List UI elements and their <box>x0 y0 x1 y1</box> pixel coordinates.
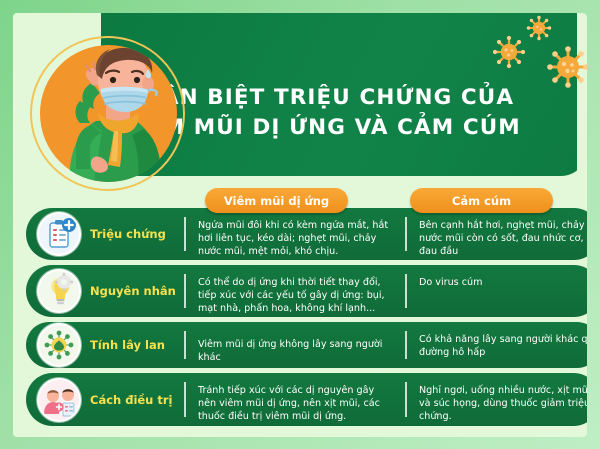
cell-contagiousness-flu: Có khả năng lây sang người khác qua đườn… <box>419 333 587 359</box>
row-divider-1 <box>184 382 186 417</box>
row-label-contagiousness: Tính lây lan <box>90 338 182 352</box>
table-row-contagiousness[interactable]: Tính lây lan Viêm mũi dị ứng không lây s… <box>26 322 587 368</box>
virus-particle-small-icon <box>526 15 552 45</box>
row-divider-2 <box>405 217 407 251</box>
cell-symptoms-flu: Bên cạnh hắt hơi, nghẹt mũi, chảy nước m… <box>419 219 587 259</box>
cell-causes-flu: Do virus cúm <box>419 276 587 289</box>
column-header-flu[interactable]: Cảm cúm <box>410 188 553 213</box>
doctor-patient-icon <box>37 378 81 422</box>
virus-particle-medium-icon <box>492 35 526 73</box>
masked-man-illustration-icon <box>40 45 177 182</box>
row-divider-2 <box>405 331 407 359</box>
row-label-causes: Nguyên nhân <box>90 284 182 298</box>
column-header-flu-label: Cảm cúm <box>452 194 511 208</box>
cell-symptoms-allergic: Ngứa mũi đôi khi có kèm ngứa mắt, hắt hơ… <box>198 219 394 259</box>
row-label-symptoms: Triệu chứng <box>90 227 182 241</box>
cell-contagiousness-allergic: Viêm mũi dị ứng không lây sang người khá… <box>198 338 394 364</box>
infographic-card: PHÂN BIỆT TRIỆU CHỨNG CỦA VIÊM MŨI DỊ ỨN… <box>13 13 587 437</box>
network-spread-icon <box>37 323 81 367</box>
hero-disc <box>40 45 177 182</box>
table-row-causes[interactable]: Nguyên nhân Có thể do dị ứng khi thời ti… <box>26 265 587 317</box>
row-divider-2 <box>405 382 407 417</box>
row-divider-1 <box>184 274 186 308</box>
row-divider-1 <box>184 217 186 251</box>
hero-illustration <box>30 23 190 203</box>
cell-treatment-flu: Nghỉ ngơi, uống nhiều nước, xịt mũi và s… <box>419 384 587 424</box>
column-header-allergic-rhinitis[interactable]: Viêm mũi dị ứng <box>205 188 348 213</box>
row-divider-2 <box>405 274 407 308</box>
virus-particle-large-icon <box>546 45 587 93</box>
table-row-symptoms[interactable]: Triệu chứng Ngứa mũi đôi khi có kèm ngứa… <box>26 208 587 260</box>
clipboard-medical-icon <box>37 212 81 256</box>
cell-causes-allergic: Có thể do dị ứng khi thời tiết thay đổi,… <box>198 276 394 316</box>
column-header-allergic-rhinitis-label: Viêm mũi dị ứng <box>224 194 329 208</box>
row-divider-1 <box>184 331 186 359</box>
row-label-treatment: Cách điều trị <box>90 393 182 407</box>
table-row-treatment[interactable]: Cách điều trị Tránh tiếp xúc với các dị … <box>26 373 587 426</box>
lightbulb-gear-icon <box>37 269 81 313</box>
cell-treatment-allergic: Tránh tiếp xúc với các dị nguyên gây nên… <box>198 384 394 424</box>
infographic-canvas: PHÂN BIỆT TRIỆU CHỨNG CỦA VIÊM MŨI DỊ ỨN… <box>0 0 600 449</box>
